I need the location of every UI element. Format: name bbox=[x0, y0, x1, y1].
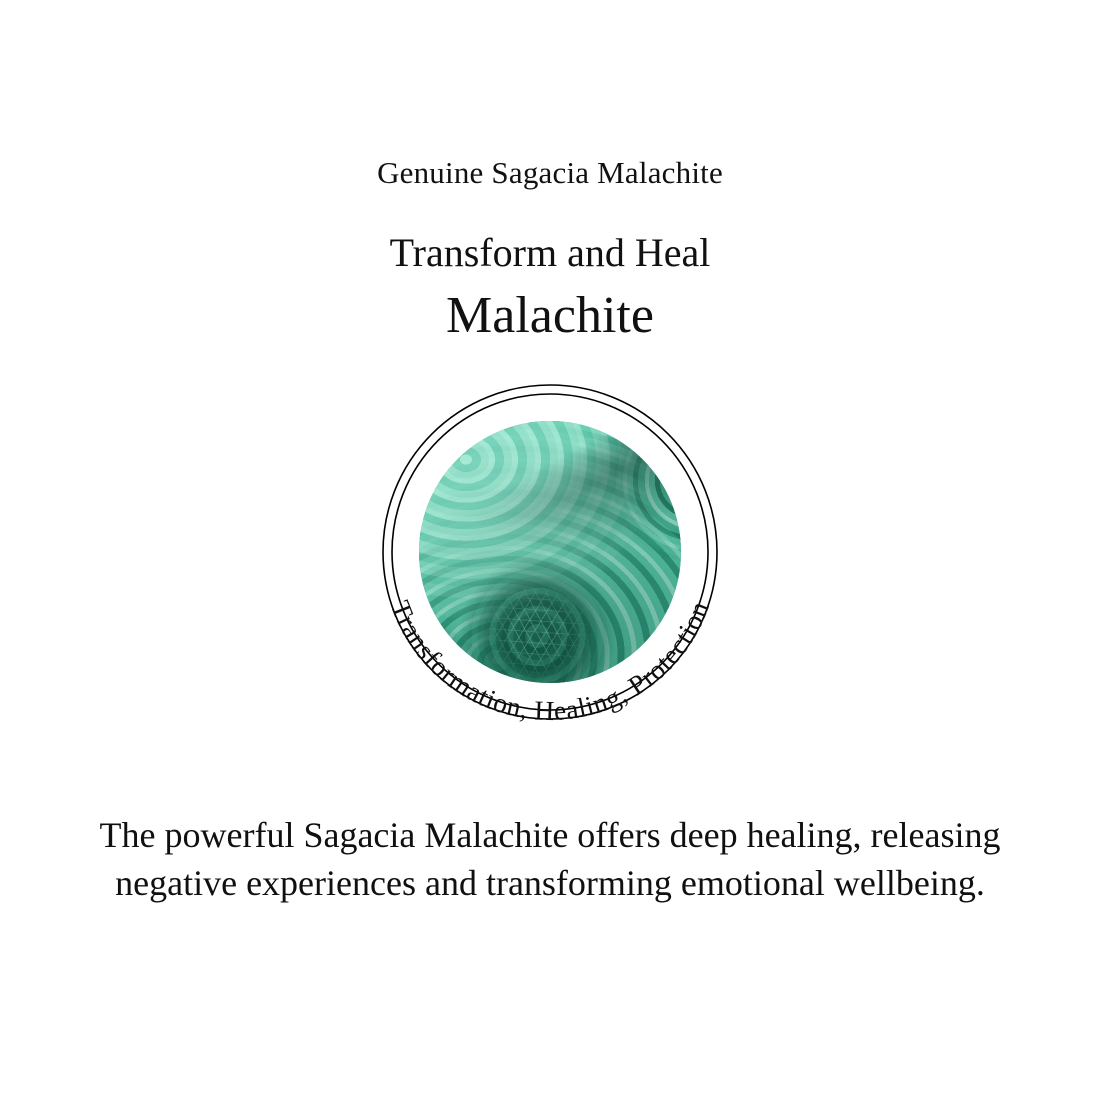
malachite-badge: Transformation, Healing, Protection bbox=[340, 342, 760, 762]
product-card: Genuine Sagacia Malachite Transform and … bbox=[0, 0, 1100, 1100]
malachite-stone bbox=[419, 421, 681, 683]
stone-shading bbox=[419, 421, 681, 683]
tagline-text: Transform and Heal bbox=[0, 231, 1100, 275]
description-text: The powerful Sagacia Malachite offers de… bbox=[80, 812, 1020, 907]
page-title: Malachite bbox=[0, 287, 1100, 344]
eyebrow-text: Genuine Sagacia Malachite bbox=[0, 156, 1100, 190]
